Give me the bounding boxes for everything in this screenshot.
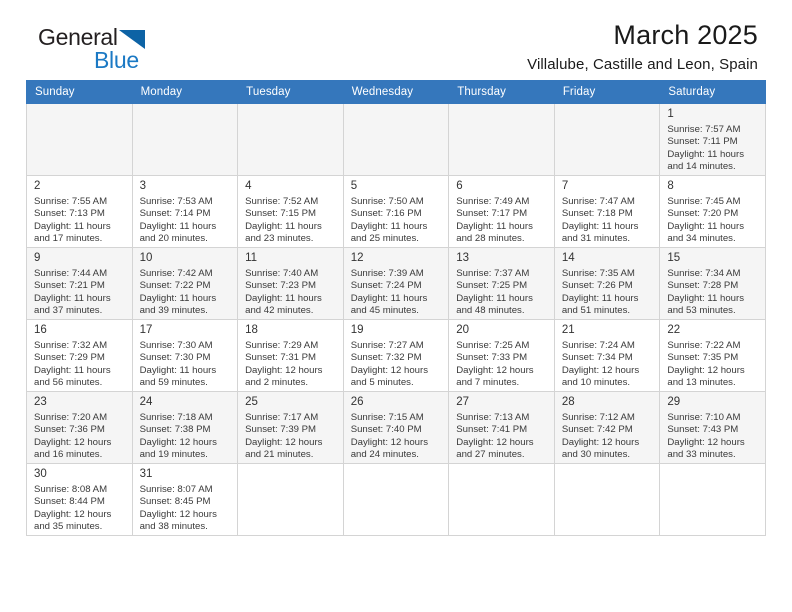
day-details: Sunrise: 7:39 AMSunset: 7:24 PMDaylight:… [344,268,449,318]
sunrise-text: Sunrise: 7:29 AM [245,340,338,352]
daylight-text: Daylight: 12 hours and 5 minutes. [351,365,444,390]
day-number: 30 [27,464,132,484]
calendar-week-row: 2Sunrise: 7:55 AMSunset: 7:13 PMDaylight… [27,176,766,248]
calendar-day-cell[interactable]: 9Sunrise: 7:44 AMSunset: 7:21 PMDaylight… [27,248,133,320]
weekday-header-wednesday: Wednesday [343,81,449,104]
day-details: Sunrise: 7:32 AMSunset: 7:29 PMDaylight:… [27,340,132,390]
sunset-text: Sunset: 8:44 PM [34,496,127,508]
sunset-text: Sunset: 7:36 PM [34,424,127,436]
daylight-text: Daylight: 11 hours and 42 minutes. [245,293,338,318]
sunset-text: Sunset: 7:24 PM [351,280,444,292]
calendar-day-cell[interactable]: 17Sunrise: 7:30 AMSunset: 7:30 PMDayligh… [132,320,238,392]
day-number: 10 [133,248,238,268]
sunset-text: Sunset: 7:40 PM [351,424,444,436]
day-details: Sunrise: 7:13 AMSunset: 7:41 PMDaylight:… [449,412,554,462]
day-details: Sunrise: 7:15 AMSunset: 7:40 PMDaylight:… [344,412,449,462]
day-number: 2 [27,176,132,196]
sunrise-text: Sunrise: 7:45 AM [667,196,760,208]
calendar-day-cell[interactable]: 29Sunrise: 7:10 AMSunset: 7:43 PMDayligh… [660,392,766,464]
calendar-day-cell[interactable]: 23Sunrise: 7:20 AMSunset: 7:36 PMDayligh… [27,392,133,464]
daylight-text: Daylight: 11 hours and 31 minutes. [562,221,655,246]
sunrise-text: Sunrise: 7:10 AM [667,412,760,424]
calendar-cell-empty [238,464,344,536]
daylight-text: Daylight: 11 hours and 53 minutes. [667,293,760,318]
weekday-header-monday: Monday [132,81,238,104]
day-details: Sunrise: 7:47 AMSunset: 7:18 PMDaylight:… [555,196,660,246]
day-details: Sunrise: 7:50 AMSunset: 7:16 PMDaylight:… [344,196,449,246]
calendar-cell-empty [449,464,555,536]
sunset-text: Sunset: 7:29 PM [34,352,127,364]
daylight-text: Daylight: 11 hours and 14 minutes. [667,149,760,174]
sunset-text: Sunset: 7:15 PM [245,208,338,220]
sunset-text: Sunset: 7:21 PM [34,280,127,292]
sunrise-text: Sunrise: 7:55 AM [34,196,127,208]
day-number: 5 [344,176,449,196]
day-details: Sunrise: 7:40 AMSunset: 7:23 PMDaylight:… [238,268,343,318]
calendar-day-cell[interactable]: 5Sunrise: 7:50 AMSunset: 7:16 PMDaylight… [343,176,449,248]
sunset-text: Sunset: 7:20 PM [667,208,760,220]
day-number: 20 [449,320,554,340]
calendar-page: General Blue March 2025 Villalube, Casti… [0,0,792,612]
sunset-text: Sunset: 7:41 PM [456,424,549,436]
day-number: 14 [555,248,660,268]
day-details: Sunrise: 7:35 AMSunset: 7:26 PMDaylight:… [555,268,660,318]
day-details: Sunrise: 7:24 AMSunset: 7:34 PMDaylight:… [555,340,660,390]
day-details: Sunrise: 7:49 AMSunset: 7:17 PMDaylight:… [449,196,554,246]
day-details: Sunrise: 7:52 AMSunset: 7:15 PMDaylight:… [238,196,343,246]
sunset-text: Sunset: 7:11 PM [667,136,760,148]
calendar-day-cell[interactable]: 18Sunrise: 7:29 AMSunset: 7:31 PMDayligh… [238,320,344,392]
page-subtitle: Villalube, Castille and Leon, Spain [527,56,758,73]
sunset-text: Sunset: 7:42 PM [562,424,655,436]
daylight-text: Daylight: 11 hours and 37 minutes. [34,293,127,318]
day-details: Sunrise: 7:34 AMSunset: 7:28 PMDaylight:… [660,268,765,318]
calendar-day-cell[interactable]: 22Sunrise: 7:22 AMSunset: 7:35 PMDayligh… [660,320,766,392]
calendar-cell-empty [238,104,344,176]
daylight-text: Daylight: 11 hours and 23 minutes. [245,221,338,246]
day-number: 1 [660,104,765,124]
day-details: Sunrise: 7:29 AMSunset: 7:31 PMDaylight:… [238,340,343,390]
daylight-text: Daylight: 11 hours and 59 minutes. [140,365,233,390]
sunrise-text: Sunrise: 7:42 AM [140,268,233,280]
daylight-text: Daylight: 12 hours and 38 minutes. [140,509,233,534]
calendar-day-cell[interactable]: 21Sunrise: 7:24 AMSunset: 7:34 PMDayligh… [554,320,660,392]
calendar-week-row: 30Sunrise: 8:08 AMSunset: 8:44 PMDayligh… [27,464,766,536]
day-details: Sunrise: 7:30 AMSunset: 7:30 PMDaylight:… [133,340,238,390]
sunset-text: Sunset: 7:35 PM [667,352,760,364]
daylight-text: Daylight: 12 hours and 16 minutes. [34,437,127,462]
sunrise-text: Sunrise: 7:37 AM [456,268,549,280]
day-number: 28 [555,392,660,412]
sunrise-text: Sunrise: 7:17 AM [245,412,338,424]
calendar-day-cell[interactable]: 28Sunrise: 7:12 AMSunset: 7:42 PMDayligh… [554,392,660,464]
sunset-text: Sunset: 7:31 PM [245,352,338,364]
daylight-text: Daylight: 12 hours and 35 minutes. [34,509,127,534]
sunrise-text: Sunrise: 7:12 AM [562,412,655,424]
calendar-day-cell[interactable]: 14Sunrise: 7:35 AMSunset: 7:26 PMDayligh… [554,248,660,320]
calendar-day-cell[interactable]: 20Sunrise: 7:25 AMSunset: 7:33 PMDayligh… [449,320,555,392]
day-details: Sunrise: 7:22 AMSunset: 7:35 PMDaylight:… [660,340,765,390]
sunrise-text: Sunrise: 7:30 AM [140,340,233,352]
sunrise-text: Sunrise: 7:25 AM [456,340,549,352]
sunset-text: Sunset: 7:43 PM [667,424,760,436]
calendar-day-cell[interactable]: 3Sunrise: 7:53 AMSunset: 7:14 PMDaylight… [132,176,238,248]
sunset-text: Sunset: 7:38 PM [140,424,233,436]
sunrise-text: Sunrise: 7:35 AM [562,268,655,280]
sunset-text: Sunset: 7:17 PM [456,208,549,220]
weekday-header-tuesday: Tuesday [238,81,344,104]
day-number: 16 [27,320,132,340]
day-number: 27 [449,392,554,412]
day-details: Sunrise: 7:37 AMSunset: 7:25 PMDaylight:… [449,268,554,318]
sunset-text: Sunset: 7:34 PM [562,352,655,364]
sunrise-text: Sunrise: 7:39 AM [351,268,444,280]
calendar-container: SundayMondayTuesdayWednesdayThursdayFrid… [26,80,766,536]
daylight-text: Daylight: 12 hours and 2 minutes. [245,365,338,390]
sunrise-text: Sunrise: 8:08 AM [34,484,127,496]
day-number: 23 [27,392,132,412]
weekday-header: SundayMondayTuesdayWednesdayThursdayFrid… [27,81,766,104]
day-number: 21 [555,320,660,340]
day-number: 29 [660,392,765,412]
sunset-text: Sunset: 7:33 PM [456,352,549,364]
calendar-day-cell[interactable]: 7Sunrise: 7:47 AMSunset: 7:18 PMDaylight… [554,176,660,248]
sunrise-text: Sunrise: 7:34 AM [667,268,760,280]
day-number: 22 [660,320,765,340]
day-details: Sunrise: 7:20 AMSunset: 7:36 PMDaylight:… [27,412,132,462]
sunrise-text: Sunrise: 7:18 AM [140,412,233,424]
day-number: 26 [344,392,449,412]
day-details: Sunrise: 7:17 AMSunset: 7:39 PMDaylight:… [238,412,343,462]
day-details: Sunrise: 7:57 AMSunset: 7:11 PMDaylight:… [660,124,765,174]
page-title: March 2025 [527,20,758,50]
daylight-text: Daylight: 11 hours and 17 minutes. [34,221,127,246]
calendar-week-row: 1Sunrise: 7:57 AMSunset: 7:11 PMDaylight… [27,104,766,176]
sunset-text: Sunset: 7:18 PM [562,208,655,220]
sunrise-text: Sunrise: 7:52 AM [245,196,338,208]
daylight-text: Daylight: 11 hours and 34 minutes. [667,221,760,246]
sunset-text: Sunset: 7:23 PM [245,280,338,292]
day-number: 25 [238,392,343,412]
day-number: 19 [344,320,449,340]
calendar-day-cell[interactable]: 19Sunrise: 7:27 AMSunset: 7:32 PMDayligh… [343,320,449,392]
day-number: 17 [133,320,238,340]
calendar-body: 1Sunrise: 7:57 AMSunset: 7:11 PMDaylight… [27,104,766,536]
calendar-week-row: 9Sunrise: 7:44 AMSunset: 7:21 PMDaylight… [27,248,766,320]
sunrise-text: Sunrise: 7:15 AM [351,412,444,424]
calendar-day-cell[interactable]: 30Sunrise: 8:08 AMSunset: 8:44 PMDayligh… [27,464,133,536]
day-details: Sunrise: 8:07 AMSunset: 8:45 PMDaylight:… [133,484,238,534]
day-details: Sunrise: 7:53 AMSunset: 7:14 PMDaylight:… [133,196,238,246]
day-number: 8 [660,176,765,196]
calendar-cell-empty [660,464,766,536]
weekday-header-sunday: Sunday [27,81,133,104]
calendar-day-cell[interactable]: 8Sunrise: 7:45 AMSunset: 7:20 PMDaylight… [660,176,766,248]
sunrise-text: Sunrise: 7:57 AM [667,124,760,136]
calendar-cell-empty [343,104,449,176]
calendar-day-cell[interactable]: 4Sunrise: 7:52 AMSunset: 7:15 PMDaylight… [238,176,344,248]
calendar-day-cell[interactable]: 24Sunrise: 7:18 AMSunset: 7:38 PMDayligh… [132,392,238,464]
day-details: Sunrise: 7:45 AMSunset: 7:20 PMDaylight:… [660,196,765,246]
sunrise-text: Sunrise: 8:07 AM [140,484,233,496]
day-number: 3 [133,176,238,196]
sunset-text: Sunset: 7:22 PM [140,280,233,292]
sunrise-text: Sunrise: 7:24 AM [562,340,655,352]
day-details: Sunrise: 7:55 AMSunset: 7:13 PMDaylight:… [27,196,132,246]
sunrise-text: Sunrise: 7:50 AM [351,196,444,208]
day-details: Sunrise: 7:44 AMSunset: 7:21 PMDaylight:… [27,268,132,318]
general-blue-logo[interactable]: General Blue [38,26,168,74]
day-number: 15 [660,248,765,268]
calendar-day-cell[interactable]: 12Sunrise: 7:39 AMSunset: 7:24 PMDayligh… [343,248,449,320]
sunrise-text: Sunrise: 7:13 AM [456,412,549,424]
sunrise-text: Sunrise: 7:40 AM [245,268,338,280]
calendar-table: SundayMondayTuesdayWednesdayThursdayFrid… [26,80,766,536]
sunset-text: Sunset: 7:16 PM [351,208,444,220]
daylight-text: Daylight: 12 hours and 7 minutes. [456,365,549,390]
day-number: 24 [133,392,238,412]
daylight-text: Daylight: 12 hours and 19 minutes. [140,437,233,462]
day-details: Sunrise: 7:12 AMSunset: 7:42 PMDaylight:… [555,412,660,462]
logo-triangle-icon [119,30,145,53]
sunset-text: Sunset: 7:30 PM [140,352,233,364]
calendar-day-cell[interactable]: 2Sunrise: 7:55 AMSunset: 7:13 PMDaylight… [27,176,133,248]
logo-line1: General [38,26,168,52]
daylight-text: Daylight: 11 hours and 28 minutes. [456,221,549,246]
calendar-day-cell[interactable]: 6Sunrise: 7:49 AMSunset: 7:17 PMDaylight… [449,176,555,248]
daylight-text: Daylight: 12 hours and 21 minutes. [245,437,338,462]
calendar-cell-empty [449,104,555,176]
page-header: General Blue March 2025 Villalube, Casti… [26,0,766,74]
sunrise-text: Sunrise: 7:49 AM [456,196,549,208]
sunrise-text: Sunrise: 7:27 AM [351,340,444,352]
sunrise-text: Sunrise: 7:20 AM [34,412,127,424]
calendar-cell-empty [554,464,660,536]
sunset-text: Sunset: 7:39 PM [245,424,338,436]
sunrise-text: Sunrise: 7:44 AM [34,268,127,280]
daylight-text: Daylight: 12 hours and 24 minutes. [351,437,444,462]
daylight-text: Daylight: 11 hours and 51 minutes. [562,293,655,318]
logo-word-general: General [38,26,118,49]
day-details: Sunrise: 7:18 AMSunset: 7:38 PMDaylight:… [133,412,238,462]
title-block: March 2025 Villalube, Castille and Leon,… [527,20,758,73]
daylight-text: Daylight: 12 hours and 33 minutes. [667,437,760,462]
calendar-day-cell[interactable]: 15Sunrise: 7:34 AMSunset: 7:28 PMDayligh… [660,248,766,320]
sunrise-text: Sunrise: 7:53 AM [140,196,233,208]
calendar-day-cell[interactable]: 26Sunrise: 7:15 AMSunset: 7:40 PMDayligh… [343,392,449,464]
calendar-day-cell[interactable]: 11Sunrise: 7:40 AMSunset: 7:23 PMDayligh… [238,248,344,320]
day-details: Sunrise: 7:27 AMSunset: 7:32 PMDaylight:… [344,340,449,390]
sunset-text: Sunset: 7:32 PM [351,352,444,364]
daylight-text: Daylight: 12 hours and 30 minutes. [562,437,655,462]
day-details: Sunrise: 8:08 AMSunset: 8:44 PMDaylight:… [27,484,132,534]
day-number: 6 [449,176,554,196]
calendar-day-cell[interactable]: 31Sunrise: 8:07 AMSunset: 8:45 PMDayligh… [132,464,238,536]
calendar-week-row: 23Sunrise: 7:20 AMSunset: 7:36 PMDayligh… [27,392,766,464]
calendar-day-cell[interactable]: 1Sunrise: 7:57 AMSunset: 7:11 PMDaylight… [660,104,766,176]
sunset-text: Sunset: 7:14 PM [140,208,233,220]
daylight-text: Daylight: 11 hours and 20 minutes. [140,221,233,246]
day-number: 31 [133,464,238,484]
daylight-text: Daylight: 12 hours and 13 minutes. [667,365,760,390]
day-number: 13 [449,248,554,268]
calendar-cell-empty [554,104,660,176]
day-number: 11 [238,248,343,268]
daylight-text: Daylight: 11 hours and 48 minutes. [456,293,549,318]
weekday-header-saturday: Saturday [660,81,766,104]
calendar-day-cell[interactable]: 16Sunrise: 7:32 AMSunset: 7:29 PMDayligh… [27,320,133,392]
calendar-cell-empty [132,104,238,176]
daylight-text: Daylight: 11 hours and 45 minutes. [351,293,444,318]
day-number: 7 [555,176,660,196]
calendar-day-cell[interactable]: 13Sunrise: 7:37 AMSunset: 7:25 PMDayligh… [449,248,555,320]
sunrise-text: Sunrise: 7:22 AM [667,340,760,352]
daylight-text: Daylight: 12 hours and 10 minutes. [562,365,655,390]
sunset-text: Sunset: 7:13 PM [34,208,127,220]
weekday-header-thursday: Thursday [449,81,555,104]
day-number: 18 [238,320,343,340]
calendar-week-row: 16Sunrise: 7:32 AMSunset: 7:29 PMDayligh… [27,320,766,392]
day-details: Sunrise: 7:42 AMSunset: 7:22 PMDaylight:… [133,268,238,318]
daylight-text: Daylight: 11 hours and 56 minutes. [34,365,127,390]
calendar-day-cell[interactable]: 25Sunrise: 7:17 AMSunset: 7:39 PMDayligh… [238,392,344,464]
calendar-cell-empty [27,104,133,176]
calendar-day-cell[interactable]: 10Sunrise: 7:42 AMSunset: 7:22 PMDayligh… [132,248,238,320]
sunrise-text: Sunrise: 7:47 AM [562,196,655,208]
calendar-cell-empty [343,464,449,536]
weekday-header-friday: Friday [554,81,660,104]
sunset-text: Sunset: 7:26 PM [562,280,655,292]
sunrise-text: Sunrise: 7:32 AM [34,340,127,352]
day-number: 9 [27,248,132,268]
day-details: Sunrise: 7:25 AMSunset: 7:33 PMDaylight:… [449,340,554,390]
day-number: 12 [344,248,449,268]
daylight-text: Daylight: 11 hours and 39 minutes. [140,293,233,318]
sunset-text: Sunset: 7:28 PM [667,280,760,292]
calendar-day-cell[interactable]: 27Sunrise: 7:13 AMSunset: 7:41 PMDayligh… [449,392,555,464]
calendar-header-row: SundayMondayTuesdayWednesdayThursdayFrid… [27,81,766,104]
day-number: 4 [238,176,343,196]
sunset-text: Sunset: 7:25 PM [456,280,549,292]
daylight-text: Daylight: 12 hours and 27 minutes. [456,437,549,462]
sunset-text: Sunset: 8:45 PM [140,496,233,508]
daylight-text: Daylight: 11 hours and 25 minutes. [351,221,444,246]
day-details: Sunrise: 7:10 AMSunset: 7:43 PMDaylight:… [660,412,765,462]
